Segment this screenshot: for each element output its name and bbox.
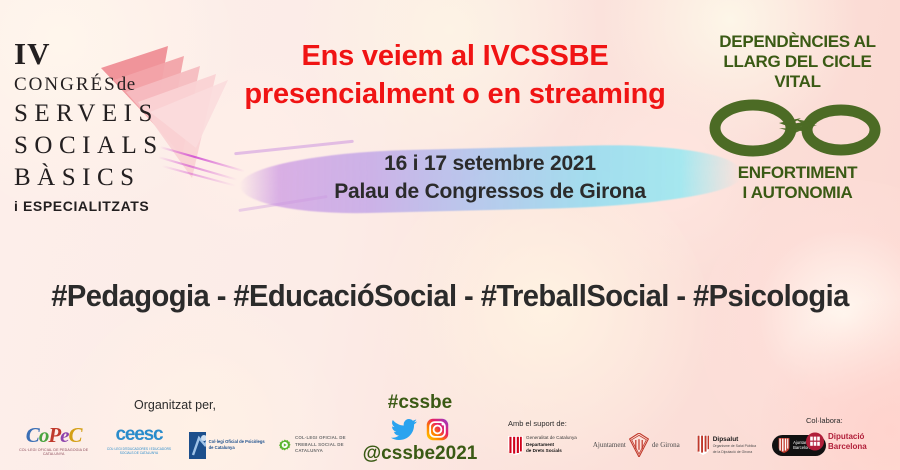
copec-subtitle: COL·LEGI OFICIAL DE PEDAGOGIA DE CATALUN…	[18, 448, 89, 457]
organizer-logo-ceesc: ceesc COL·LEGI D'EDUCADORES I EDUCADORS …	[103, 425, 174, 465]
ajuntament-girona-text-right: de Girona	[652, 441, 680, 449]
event-hashtag: #cssbe	[345, 392, 495, 414]
chain-links-icon	[707, 97, 889, 159]
theme-line-1: DEPENDÈNCIES AL	[700, 32, 895, 52]
de-word: de	[117, 74, 136, 95]
congress-logo: IV CONGRÉSde SERVEIS SOCIALS BÀSICS i ES…	[8, 38, 178, 213]
ajuntament-girona-text-left: Ajuntament	[593, 441, 626, 449]
generalitat-shield-icon	[508, 436, 523, 455]
generalitat-line-2: Departament	[526, 442, 554, 447]
social-icon-row	[345, 418, 495, 441]
diba-line-2: Barcelona	[828, 442, 867, 451]
supporters-label: Amb el suport de:	[508, 419, 567, 428]
generalitat-text: Generalitat de Catalunya Departament de …	[526, 435, 577, 455]
headline-line-1: Ens veiem al IVCSSBE	[215, 38, 695, 76]
dipsalut-sub-1: Organisme de Salut Pública	[713, 444, 756, 449]
ceesc-wordmark: ceesc	[116, 425, 163, 444]
organizers-label: Organitzat per,	[80, 398, 270, 412]
copec-wordmark: CoPeC	[26, 425, 82, 446]
diba-emblem-icon	[806, 432, 824, 451]
congres-word: CONGRÉS	[14, 74, 117, 95]
theme-line-5: I AUTONOMIA	[700, 183, 895, 203]
congress-line-especialitzats: i ESPECIALITZATS	[14, 199, 178, 213]
psicolegs-figure-icon	[189, 432, 206, 459]
generalitat-line-1: Generalitat de Catalunya	[526, 435, 577, 442]
congress-line-basics: BÀSICS	[14, 165, 178, 190]
girona-shield-icon	[629, 433, 649, 457]
dipsalut-shield-icon	[696, 435, 710, 455]
congress-edition: IV	[14, 38, 178, 69]
twitter-bird-icon[interactable]	[391, 419, 417, 440]
supporter-logo-generalitat: Generalitat de Catalunya Departament de …	[508, 435, 577, 455]
gear-icon	[279, 433, 291, 457]
congress-line-socials: SOCIALS	[14, 133, 178, 158]
theme-line-2: LLARG DEL CICLE	[700, 52, 895, 72]
event-venue: Palau de Congressos de Girona	[240, 178, 740, 206]
organizer-logos: CoPeC COL·LEGI OFICIAL DE PEDAGOGIA DE C…	[18, 424, 358, 466]
dipsalut-title: Dipsalut	[713, 436, 739, 443]
congress-line-serveis: SERVEIS	[14, 101, 178, 126]
event-date: 16 i 17 setembre 2021	[240, 150, 740, 178]
organizer-logo-psicolegs: Col·legi Oficial de Psicòlegs de Catalun…	[189, 425, 266, 465]
headline: Ens veiem al IVCSSBE presencialment o en…	[215, 38, 695, 113]
diba-text: Diputació Barcelona	[828, 432, 867, 450]
collaborators-label: Col·labora:	[806, 416, 843, 425]
event-date-venue: 16 i 17 setembre 2021 Palau de Congresso…	[240, 150, 740, 205]
headline-line-2: presencialment o en streaming	[215, 76, 695, 114]
organizer-logo-copec: CoPeC COL·LEGI OFICIAL DE PEDAGOGIA DE C…	[18, 425, 89, 465]
date-banner: 16 i 17 setembre 2021 Palau de Congresso…	[240, 140, 740, 225]
psicolegs-emblem-icon	[189, 432, 206, 459]
dipsalut-text: Dipsalut Organisme de Salut Pública de l…	[713, 436, 756, 455]
supporter-logo-dipsalut: Dipsalut Organisme de Salut Pública de l…	[696, 435, 756, 455]
theme-line-3: VITAL	[700, 72, 895, 92]
dipsalut-sub-2: de la Diputació de Girona	[713, 450, 756, 455]
theme-logo: DEPENDÈNCIES AL LLARG DEL CICLE VITAL EN…	[700, 32, 895, 203]
diba-line-1: Diputació	[828, 432, 867, 441]
barcelona-shield-icon	[778, 438, 790, 453]
theme-title-bottom: ENFORTIMENT I AUTONOMIA	[700, 163, 895, 203]
instagram-camera-icon[interactable]	[426, 418, 449, 441]
supporter-logo-ajuntament-girona: Ajuntament de Girona	[593, 433, 680, 457]
theme-line-4: ENFORTIMENT	[700, 163, 895, 183]
hashtag-strip: #Pedagogia - #EducacióSocial - #TreballS…	[27, 278, 873, 314]
collaborator-logos: Diputació Barcelona	[806, 432, 867, 451]
generalitat-line-3: de Drets Socials	[526, 448, 562, 453]
event-poster: IV CONGRÉSde SERVEIS SOCIALS BÀSICS i ES…	[0, 0, 900, 470]
psicolegs-subtitle: Col·legi Oficial de Psicòlegs de Catalun…	[209, 439, 266, 450]
theme-title-top: DEPENDÈNCIES AL LLARG DEL CICLE VITAL	[700, 32, 895, 92]
ceesc-subtitle: COL·LEGI D'EDUCADORES I EDUCADORS SOCIAL…	[103, 447, 174, 455]
event-social-handle: @cssbe2021	[335, 443, 505, 465]
congress-line-congres: CONGRÉSde	[14, 75, 178, 94]
supporter-logos: Generalitat de Catalunya Departament de …	[508, 430, 826, 460]
